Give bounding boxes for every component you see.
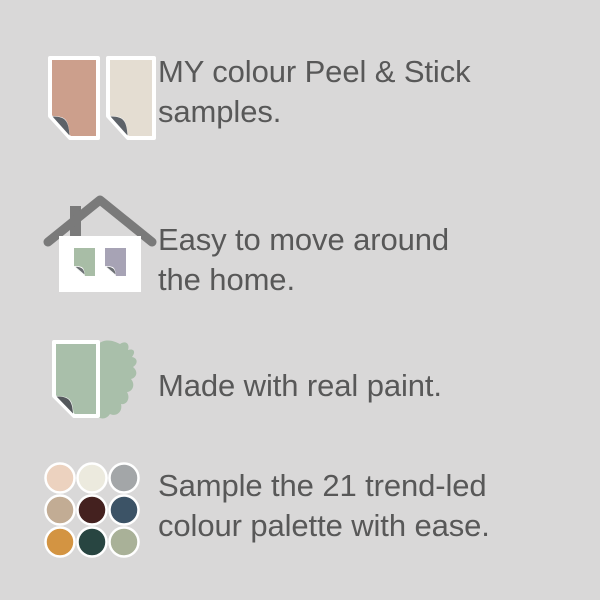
palette-swatch-sage-grey-green (110, 528, 139, 557)
two-peel-stick-swatches-icon (28, 42, 158, 142)
paint-swatch-svg (44, 332, 152, 426)
house-with-swatches-icon (28, 184, 158, 300)
benefit-text-made-with-real-paint: Made with real paint. (158, 324, 570, 406)
palette-grid-svg (44, 462, 144, 562)
palette-swatch-ochre-mustard (46, 528, 75, 557)
swatch-with-brushstroke-icon (28, 324, 158, 426)
two-peel-stick-swatches-svg (46, 54, 158, 142)
palette-swatch-row-3 (46, 528, 139, 557)
colour-palette-grid-icon (28, 452, 158, 562)
benefit-item-made-with-real-paint: Made with real paint. (28, 324, 570, 452)
palette-swatch-row-2 (46, 496, 139, 525)
palette-swatch-deep-burgundy-brown (78, 496, 107, 525)
benefit-item-peel-stick-samples: MY colour Peel & Stick samples. (28, 42, 570, 184)
palette-swatch-blush-peach (46, 464, 75, 493)
palette-swatch-medium-grey (110, 464, 139, 493)
palette-swatch-dark-teal-green (78, 528, 107, 557)
house-svg (42, 192, 158, 300)
benefit-text-trend-led-palette: Sample the 21 trend-led colour palette w… (158, 452, 570, 545)
benefits-list: MY colour Peel & Stick samples. Easy (0, 0, 600, 600)
palette-swatch-off-white-cream (78, 464, 107, 493)
benefit-item-trend-led-palette: Sample the 21 trend-led colour palette w… (28, 452, 570, 572)
palette-swatch-row-1 (46, 464, 139, 493)
benefit-item-easy-to-move: Easy to move around the home. (28, 184, 570, 324)
palette-swatch-warm-taupe (46, 496, 75, 525)
benefit-text-peel-stick-samples: MY colour Peel & Stick samples. (158, 42, 570, 131)
palette-swatch-slate-blue (110, 496, 139, 525)
benefit-text-easy-to-move: Easy to move around the home. (158, 184, 570, 299)
